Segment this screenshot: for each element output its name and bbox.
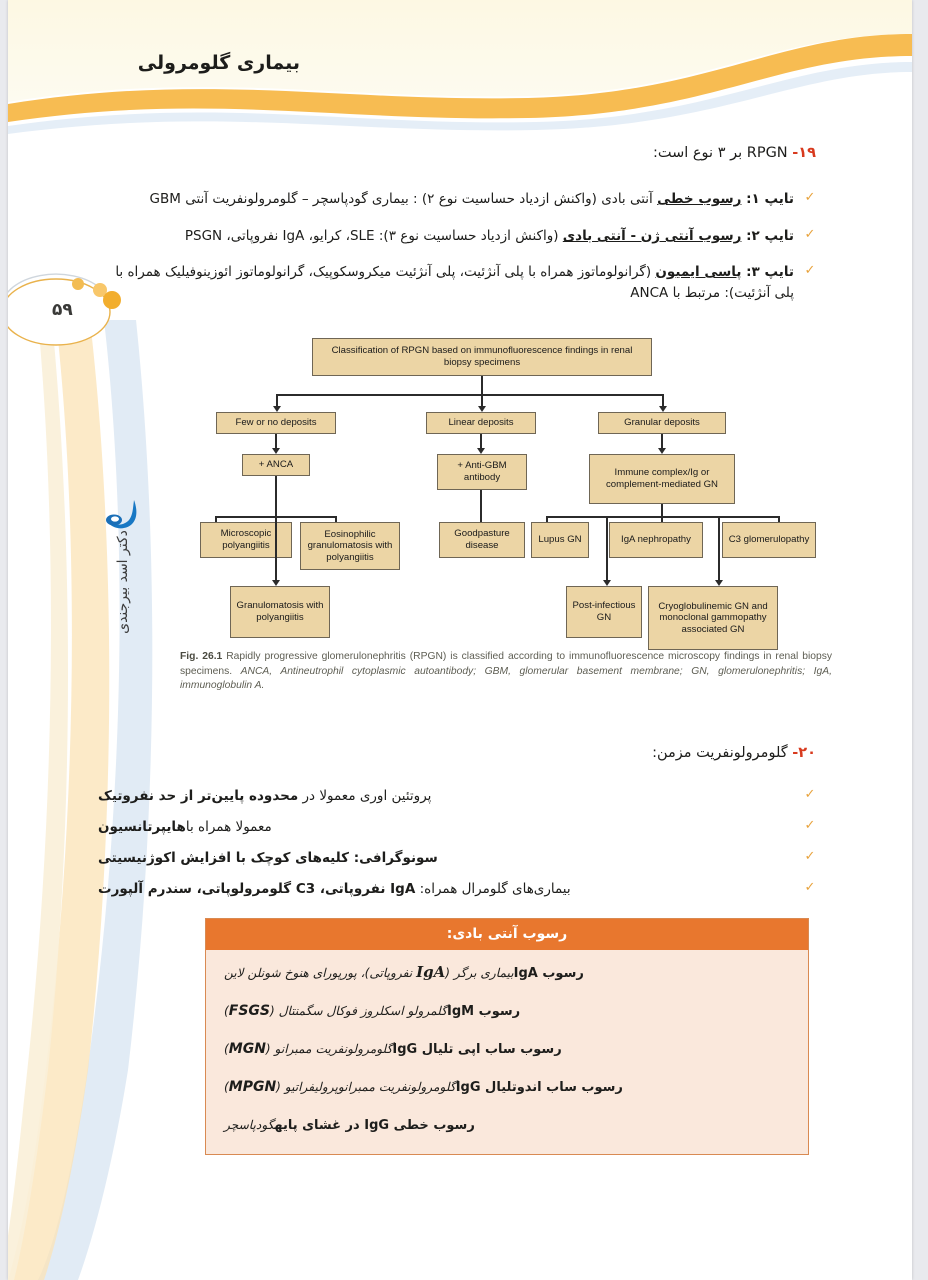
panel-row-value: گلمرولو اسکلروز فوکال سگمنتال (FSGS)	[224, 1004, 447, 1019]
check-icon: ✓	[804, 879, 816, 896]
panel-body: رسوب IgAبیماری برگر (IgA نفروپاتی)، پورپ…	[206, 950, 808, 1154]
flow-connector	[718, 516, 720, 528]
panel-row: رسوب خطی IgG در غشای پایهگودپاسچر	[224, 1115, 790, 1136]
bullet-text: پروتئین اوری معمولا در محدوده پایین‌تر ا…	[98, 786, 794, 807]
flow-node-iga-nephropathy: IgA nephropathy	[609, 522, 703, 558]
flow-node-linear-deposits: Linear deposits	[426, 412, 536, 434]
bullet-text: معمولا همراه باهایپرتانسیون	[98, 817, 794, 838]
flow-node-immune-complex-gn: Immune complex/Ig or complement-mediated…	[589, 454, 735, 504]
flow-node-gpa: Granulomatosis with polyangiitis	[230, 586, 330, 638]
flow-node-cryoglobulinemic-gn: Cryoglobulinemic GN and monoclonal gammo…	[648, 586, 778, 650]
question-20-number: ۲۰-	[792, 745, 816, 761]
panel-row: رسوب ساب اندوتلیال IgGگلومرولونفریت ممبر…	[224, 1077, 790, 1098]
list-item: ✓ پروتئین اوری معمولا در محدوده پایین‌تر…	[98, 786, 816, 807]
panel-row-value: گلومرولونفریت ممبرانو (MGN)	[224, 1042, 392, 1057]
flow-connector	[480, 490, 482, 526]
rpgn-classification-flowchart: Classification of RPGN based on immunofl…	[194, 338, 834, 638]
panel-title: رسوب آنتی بادی:	[206, 919, 808, 950]
bullet-text: تایپ ۱: رسوب خطی آنتی بادی (واکنش ازدیاد…	[150, 189, 794, 210]
panel-row-value: گودپاسچر	[224, 1118, 274, 1133]
flow-connector	[606, 516, 608, 528]
flow-connector	[661, 504, 663, 516]
flow-connector	[276, 394, 664, 396]
flow-node-microscopic-polyangiitis: Microscopic polyangiitis	[200, 522, 292, 558]
document-page: بیماری گلومرولی ۵۹ دکتر اسد بیرجندی	[8, 0, 912, 1280]
flow-node-anti-gbm-antibody: + Anti-GBM antibody	[437, 454, 527, 490]
bullet-text: بیماری‌های گلومرال همراه: IgA نفروپاتی، …	[98, 879, 794, 900]
question-19-number: ۱۹-	[792, 145, 816, 161]
list-item: ✓ تایپ ۱: رسوب خطی آنتی بادی (واکنش ازدی…	[98, 189, 816, 210]
panel-row-label: رسوب IgA	[514, 966, 584, 981]
panel-row-value: بیماری برگر (IgA نفروپاتی)، پورپورای هنو…	[224, 966, 514, 981]
check-icon: ✓	[804, 226, 816, 243]
figure-caption-abbrev: ANCA, Antineutrophil cytoplasmic autoant…	[180, 666, 832, 692]
flow-connector	[718, 528, 720, 582]
flow-node-goodpasture-disease: Goodpasture disease	[439, 522, 525, 558]
question-19-heading: ۱۹- RPGN بر ۳ نوع است:	[653, 145, 816, 161]
flow-node-lupus-gn: Lupus GN	[531, 522, 589, 558]
question-19-text: RPGN بر ۳ نوع است:	[653, 145, 788, 161]
question-20-heading: ۲۰- گلومرولونفریت مزمن:	[652, 745, 816, 761]
figure-caption: Fig. 26.1 Rapidly progressive glomerulon…	[180, 650, 832, 694]
list-item: ✓ سونوگرافی: کلیه‌های کوچک با افزایش اکو…	[98, 848, 816, 869]
flow-node-c3-glomerulopathy: C3 glomerulopathy	[722, 522, 816, 558]
panel-row-label: رسوب خطی IgG در غشای پایه	[274, 1118, 474, 1133]
flow-connector	[481, 376, 483, 394]
flow-node-few-or-no-deposits: Few or no deposits	[216, 412, 336, 434]
check-icon: ✓	[804, 848, 816, 865]
check-icon: ✓	[804, 786, 816, 803]
flow-connector	[606, 528, 608, 582]
bullet-text: سونوگرافی: کلیه‌های کوچک با افزایش اکوژن…	[98, 848, 794, 869]
antibody-deposit-panel: رسوب آنتی بادی: رسوب IgAبیماری برگر (IgA…	[205, 918, 809, 1155]
flow-connector	[275, 516, 277, 582]
flow-node-granular-deposits: Granular deposits	[598, 412, 726, 434]
flow-connector	[275, 476, 277, 516]
list-item: ✓ معمولا همراه باهایپرتانسیون	[98, 817, 816, 838]
panel-row-label: رسوب ساب اندوتلیال IgG	[456, 1080, 623, 1095]
flow-node-post-infectious-gn: Post-infectious GN	[566, 586, 642, 638]
flow-connector	[546, 516, 780, 518]
panel-row: رسوب ساب اپی تلیال IgGگلومرولونفریت ممبر…	[224, 1039, 790, 1060]
check-icon: ✓	[804, 817, 816, 834]
list-item: ✓ تایپ ۳: پاسی ایمیون (گرانولوماتوز همرا…	[98, 262, 816, 304]
flow-node-root: Classification of RPGN based on immunofl…	[312, 338, 652, 376]
check-icon: ✓	[804, 262, 816, 279]
panel-row: رسوب IgMگلمرولو اسکلروز فوکال سگمنتال (F…	[224, 1001, 790, 1022]
list-item: ✓ بیماری‌های گلومرال همراه: IgA نفروپاتی…	[98, 879, 816, 900]
page-content: ۱۹- RPGN بر ۳ نوع است: ✓ تایپ ۱: رسوب خط…	[8, 0, 912, 1280]
panel-row-value: گلومرولونفریت ممبرانوپرولیفراتیو (MPGN)	[224, 1080, 456, 1095]
panel-row-label: رسوب IgM	[447, 1004, 520, 1019]
figure-caption-label: Fig. 26.1	[180, 651, 222, 662]
panel-row: رسوب IgAبیماری برگر (IgA نفروپاتی)، پورپ…	[224, 962, 790, 984]
question-20-text: گلومرولونفریت مزمن:	[652, 745, 788, 761]
list-item: ✓ تایپ ۲: رسوب آنتی ژن - آنتی بادی (واکن…	[98, 226, 816, 247]
bullet-text: تایپ ۲: رسوب آنتی ژن - آنتی بادی (واکنش …	[185, 226, 794, 247]
flow-node-egpa: Eosinophilic granulomatosis with polyang…	[300, 522, 400, 570]
flow-node-anca: + ANCA	[242, 454, 310, 476]
bullet-text: تایپ ۳: پاسی ایمیون (گرانولوماتوز همراه …	[98, 262, 794, 304]
check-icon: ✓	[804, 189, 816, 206]
panel-row-label: رسوب ساب اپی تلیال IgG	[392, 1042, 561, 1057]
